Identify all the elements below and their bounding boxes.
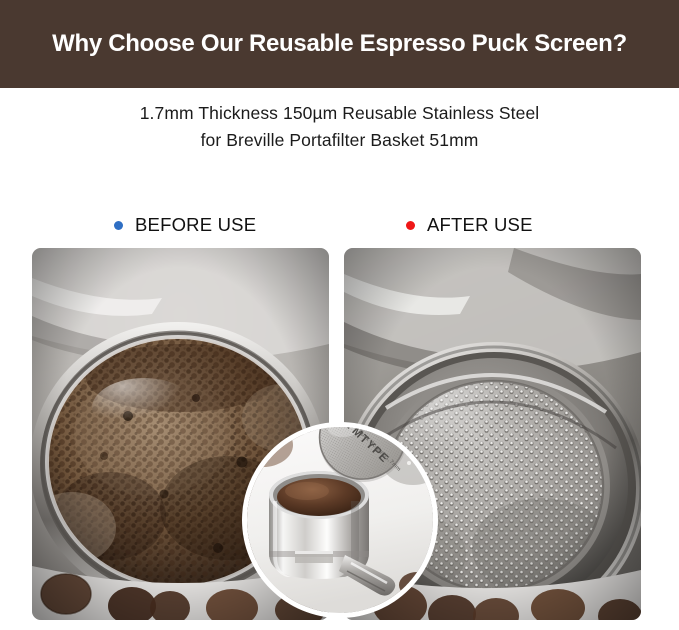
legend-label-before: BEFORE USE <box>135 214 256 236</box>
bullet-dot-icon-before <box>114 221 123 230</box>
portafilter-with-puck-screen: SYMTYPE Puck Screen/1.7mm <box>247 427 433 613</box>
subtitle-line-1: 1.7mm Thickness 150µm Reusable Stainless… <box>0 100 679 127</box>
subtitle-line-2: for Breville Portafilter Basket 51mm <box>0 127 679 154</box>
product-inset-photo: SYMTYPE Puck Screen/1.7mm <box>247 427 433 613</box>
product-subtitle: 1.7mm Thickness 150µm Reusable Stainless… <box>0 100 679 154</box>
legend-item-after: AFTER USE <box>406 211 533 239</box>
page-title: Why Choose Our Reusable Espresso Puck Sc… <box>52 30 627 58</box>
header-banner: Why Choose Our Reusable Espresso Puck Sc… <box>0 0 679 88</box>
legend-item-before: BEFORE USE <box>114 211 256 239</box>
legend-label-after: AFTER USE <box>427 214 533 236</box>
comparison-legend: BEFORE USE AFTER USE <box>0 211 679 239</box>
bullet-dot-icon-after <box>406 221 415 230</box>
